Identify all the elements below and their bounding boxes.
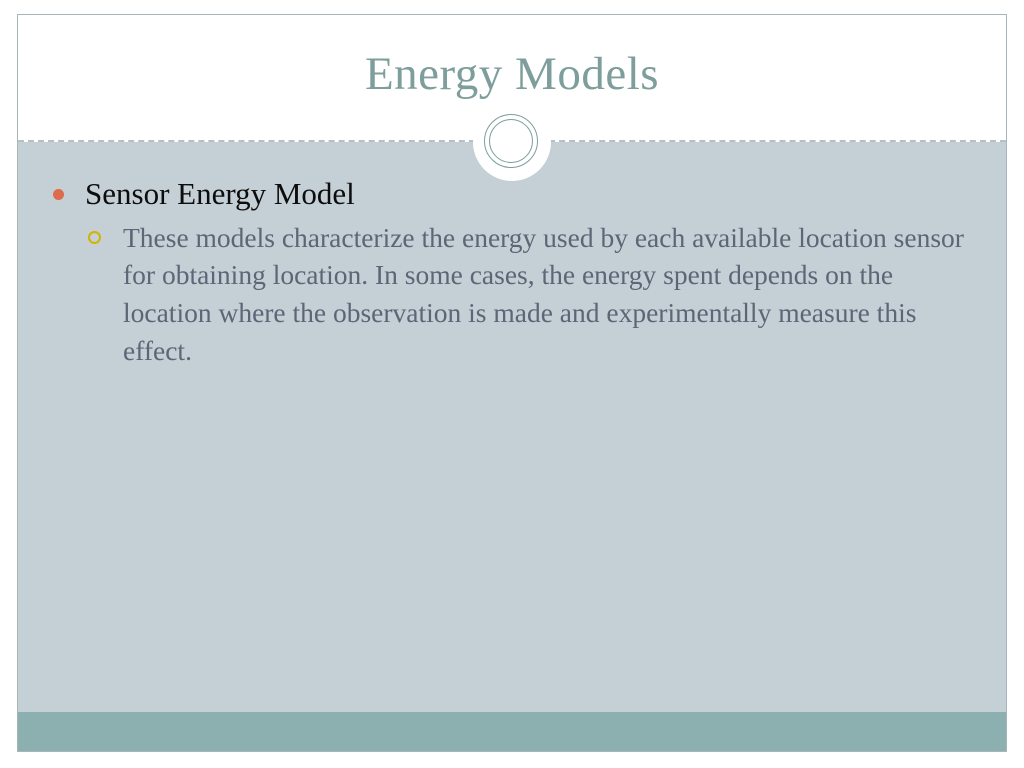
hollow-circle-bullet-icon: [88, 231, 101, 244]
slide: Energy Models Sensor Energy Model These …: [17, 14, 1007, 752]
list-item-level2-label: These models characterize the energy use…: [123, 222, 964, 366]
double-ring-circle-icon: [473, 103, 551, 181]
page-title: Energy Models: [18, 51, 1006, 98]
ornament-inner-ring: [489, 119, 533, 163]
list-item-level1: Sensor Energy Model: [44, 176, 980, 213]
slide-footer-bar: [18, 712, 1006, 751]
list-item-level2: These models characterize the energy use…: [44, 219, 980, 370]
filled-circle-bullet-icon: [53, 189, 64, 200]
list-item-level1-label: Sensor Energy Model: [85, 176, 355, 211]
slide-body: Sensor Energy Model These models charact…: [18, 142, 1006, 712]
